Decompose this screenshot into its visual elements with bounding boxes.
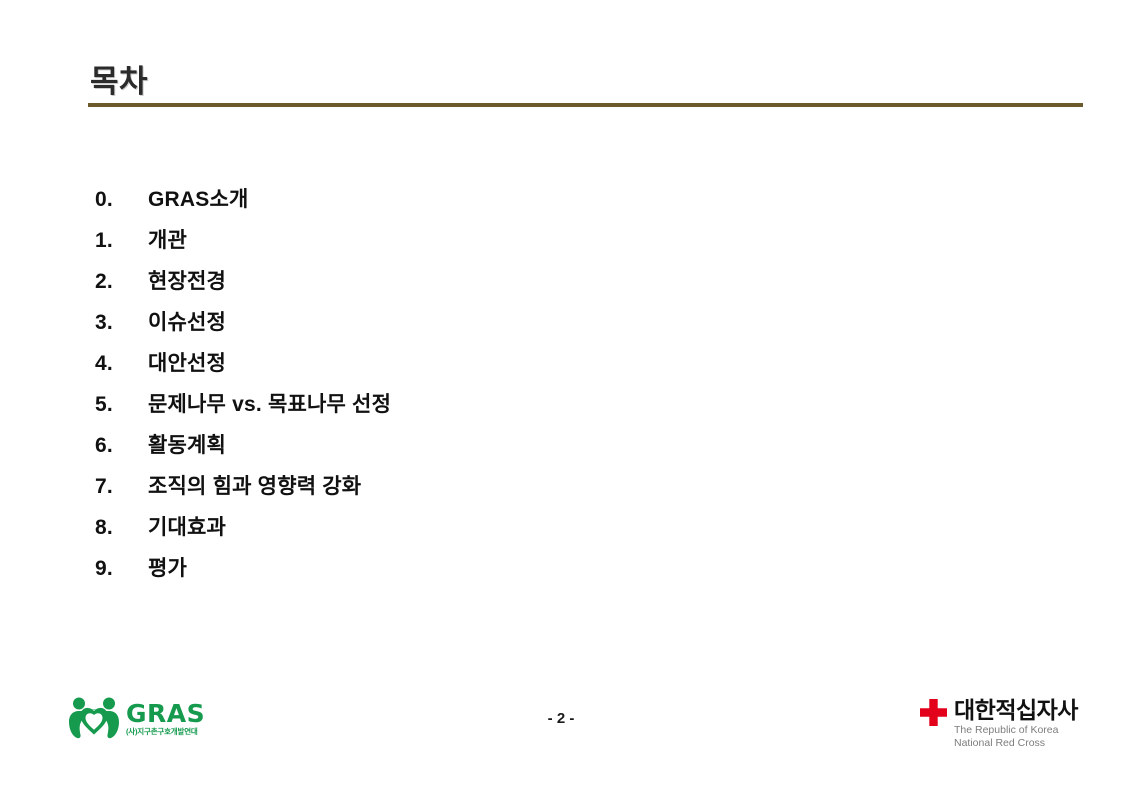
gras-heart-figures-icon [68,696,120,740]
list-item: 8. 기대효과 [95,511,995,552]
list-item: 9. 평가 [95,552,995,593]
gras-subtitle: (사)지구촌구호개발연대 [126,728,205,736]
list-item: 1. 개관 [95,224,995,265]
list-item-number: 7. [95,475,148,499]
list-item-label: 이슈선정 [148,306,226,336]
list-item-number: 1. [95,229,148,253]
gras-wordmark: GRAS [126,701,205,726]
list-item-number: 2. [95,270,148,294]
title-block: 목차 [88,66,1083,107]
list-item-label: 개관 [148,224,187,254]
red-cross-korean-name: 대한적십자사 [954,698,1078,722]
list-item-label: 현장전경 [148,265,226,295]
page-title: 목차 [88,66,1083,103]
list-item-number: 5. [95,393,148,417]
gras-logo-text: GRAS (사)지구촌구호개발연대 [126,701,205,736]
list-item-number: 4. [95,352,148,376]
list-item-number: 9. [95,557,148,581]
list-item-label: 문제나무 vs. 목표나무 선정 [148,388,391,418]
red-cross-english-name: The Republic of Korea National Red Cross [954,724,1078,750]
list-item: 4. 대안선정 [95,347,995,388]
list-item: 6. 활동계획 [95,429,995,470]
red-cross-logo: 대한적십자사 The Republic of Korea National Re… [920,698,1078,750]
red-cross-logo-text: 대한적십자사 The Republic of Korea National Re… [954,698,1078,750]
list-item-number: 8. [95,516,148,540]
list-item-label: 기대효과 [148,511,226,541]
list-item-label: 대안선정 [148,347,226,377]
list-item-label: 평가 [148,552,187,582]
slide: 목차 0. GRAS소개 1. 개관 2. 현장전경 3. 이슈선정 4. 대안… [0,0,1122,793]
list-item: 3. 이슈선정 [95,306,995,347]
gras-logo: GRAS (사)지구촌구호개발연대 [68,696,205,740]
list-item-label: 활동계획 [148,429,226,459]
list-item-number: 0. [95,188,148,212]
list-item: 7. 조직의 힘과 영향력 강화 [95,470,995,511]
list-item-number: 6. [95,434,148,458]
list-item: 2. 현장전경 [95,265,995,306]
title-divider [88,103,1083,107]
list-item-label: 조직의 힘과 영향력 강화 [148,470,361,500]
list-item-number: 3. [95,311,148,335]
agenda-list: 0. GRAS소개 1. 개관 2. 현장전경 3. 이슈선정 4. 대안선정 … [95,183,995,593]
list-item-label: GRAS소개 [148,183,249,213]
red-cross-icon [920,699,947,726]
red-cross-english-line2: National Red Cross [954,737,1045,749]
list-item: 5. 문제나무 vs. 목표나무 선정 [95,388,995,429]
list-item: 0. GRAS소개 [95,183,995,224]
red-cross-english-line1: The Republic of Korea [954,724,1058,736]
